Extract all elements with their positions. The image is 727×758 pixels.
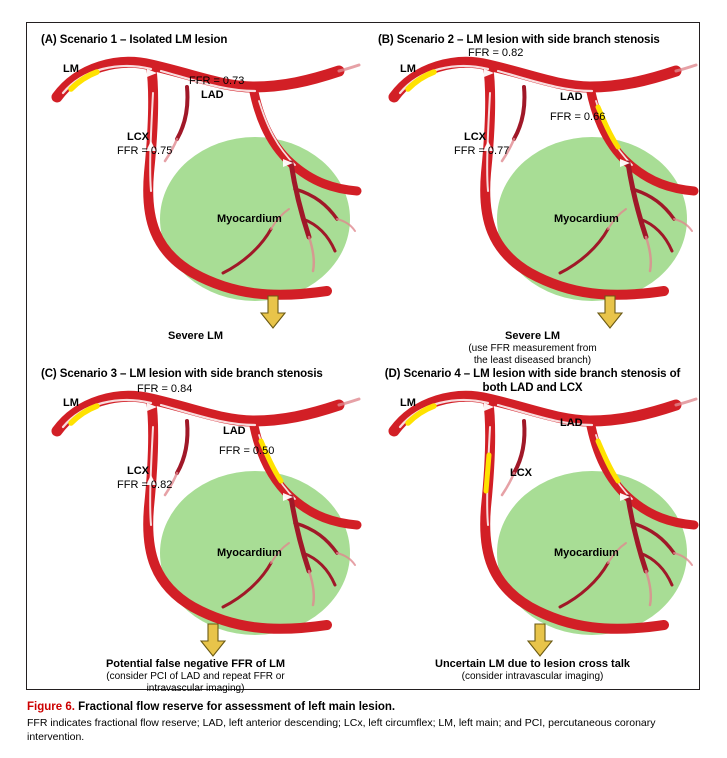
- figure-border-box: (A) Scenario 1 – Isolated LM lesion: [26, 22, 700, 690]
- panel-c-outcome: Potential false negative FFR of LM (cons…: [27, 658, 364, 695]
- label-lm: LM: [63, 397, 79, 410]
- panel-d-outcome: Uncertain LM due to lesion cross talk (c…: [364, 658, 701, 683]
- down-arrow-icon: [526, 623, 554, 657]
- outcome-main: Severe LM: [27, 330, 364, 343]
- label-lcx: LCX: [127, 131, 149, 144]
- down-arrow-icon: [199, 623, 227, 657]
- caption-figure-label: Figure 6.: [27, 701, 75, 713]
- ffr-lcx-value: FFR = 0.82: [117, 479, 172, 492]
- down-arrow-icon: [259, 295, 287, 329]
- caption-body: FFR indicates fractional flow reserve; L…: [27, 716, 705, 744]
- lcx-plaque: [486, 455, 489, 491]
- label-lm: LM: [400, 63, 416, 76]
- caption-title-line: Figure 6. Fractional flow reserve for as…: [27, 700, 705, 715]
- label-lm: LM: [400, 397, 416, 410]
- figure-caption: Figure 6. Fractional flow reserve for as…: [27, 700, 705, 744]
- label-lad: LAD: [201, 89, 224, 102]
- label-myocardium: Myocardium: [554, 213, 619, 226]
- panel-a-outcome: Severe LM: [27, 330, 364, 343]
- outcome-main: Uncertain LM due to lesion cross talk: [364, 658, 701, 671]
- down-arrow-icon: [596, 295, 624, 329]
- ffr-lcx-value: FFR = 0.77: [454, 145, 509, 158]
- outcome-main: Potential false negative FFR of LM: [27, 658, 364, 671]
- label-lcx: LCX: [127, 465, 149, 478]
- ffr-lad-value: FFR = 0.66: [550, 111, 605, 124]
- outcome-sub: (consider PCI of LAD and repeat FFR or i…: [27, 671, 364, 695]
- label-lm: LM: [63, 63, 79, 76]
- panel-d: (D) Scenario 4 – LM lesion with side bra…: [364, 357, 701, 691]
- label-lad: LAD: [560, 91, 583, 104]
- label-lad: LAD: [560, 417, 583, 430]
- panel-b: (B) Scenario 2 – LM lesion with side bra…: [364, 23, 701, 357]
- label-lcx: LCX: [464, 131, 486, 144]
- outcome-sub: (consider intravascular imaging): [364, 671, 701, 683]
- panel-c: (C) Scenario 3 – LM lesion with side bra…: [27, 357, 364, 691]
- ffr-lad-value: FFR = 0.73: [189, 75, 244, 88]
- label-myocardium: Myocardium: [554, 547, 619, 560]
- caption-title-text: Fractional flow reserve for assessment o…: [78, 701, 395, 713]
- outcome-main: Severe LM: [364, 330, 701, 343]
- figure-page: (A) Scenario 1 – Isolated LM lesion: [0, 0, 727, 758]
- label-myocardium: Myocardium: [217, 547, 282, 560]
- label-lcx: LCX: [510, 467, 532, 480]
- ffr-lm-value: FFR = 0.82: [468, 47, 523, 60]
- panel-a: (A) Scenario 1 – Isolated LM lesion: [27, 23, 364, 357]
- ffr-lad-value: FFR = 0.50: [219, 445, 274, 458]
- ffr-lcx-value: FFR = 0.75: [117, 145, 172, 158]
- ffr-lm-value: FFR = 0.84: [137, 383, 192, 396]
- label-myocardium: Myocardium: [217, 213, 282, 226]
- label-lad: LAD: [223, 425, 246, 438]
